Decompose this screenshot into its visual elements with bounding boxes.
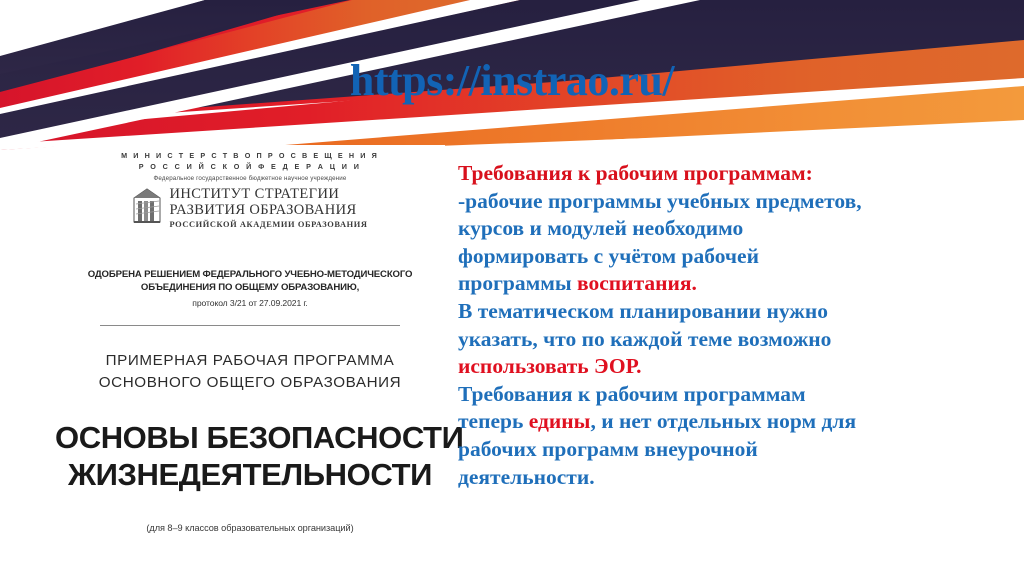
program-title-line-1: ПРИМЕРНАЯ РАБОЧАЯ ПРОГРАММА bbox=[55, 350, 445, 372]
institute-name-line-2: РАЗВИТИЯ ОБРАЗОВАНИЯ bbox=[169, 203, 367, 219]
approval-block: ОДОБРЕНА РЕШЕНИЕМ ФЕДЕРАЛЬНОГО УЧЕБНО-МЕ… bbox=[55, 269, 445, 308]
body-line-6: указать, что по каждой теме возможно bbox=[458, 326, 998, 354]
protocol-line: протокол 3/21 от 27.09.2021 г. bbox=[67, 298, 433, 308]
body-line-9-emphasis: едины bbox=[529, 409, 591, 433]
body-line-1: -рабочие программы учебных предметов, bbox=[458, 188, 998, 216]
document-cover-image: М И Н И С Т Е Р С Т В О П Р О С В Е Щ Е … bbox=[55, 145, 445, 545]
body-line-4-prefix: программы bbox=[458, 271, 577, 295]
institute-name-line-1: ИНСТИТУТ СТРАТЕГИИ bbox=[169, 187, 367, 203]
target-grades-line: (для 8–9 классов образовательных организ… bbox=[55, 523, 445, 533]
body-line-7: использовать ЭОР. bbox=[458, 353, 998, 381]
program-title-block: ПРИМЕРНАЯ РАБОЧАЯ ПРОГРАММА ОСНОВНОГО ОБ… bbox=[55, 350, 445, 394]
program-title-line-2: ОСНОВНОГО ОБЩЕГО ОБРАЗОВАНИЯ bbox=[55, 372, 445, 394]
body-line-3: формировать с учётом рабочей bbox=[458, 243, 998, 271]
federal-institution-line: Федеральное государственное бюджетное на… bbox=[154, 175, 347, 182]
body-line-11: деятельности. bbox=[458, 464, 998, 492]
body-line-8: Требования к рабочим программам bbox=[458, 381, 998, 409]
body-line-2: курсов и модулей необходимо bbox=[458, 215, 998, 243]
body-line-10: рабочих программ внеурочной bbox=[458, 436, 998, 464]
approval-line-1: ОДОБРЕНА РЕШЕНИЕМ ФЕДЕРАЛЬНОГО УЧЕБНО-МЕ… bbox=[67, 269, 433, 282]
ministry-line-2: Р О С С И Й С К О Й Ф Е Д Е Р А Ц И И bbox=[139, 162, 362, 171]
institute-building-icon bbox=[132, 188, 162, 229]
institute-logo-text: ИНСТИТУТ СТРАТЕГИИ РАЗВИТИЯ ОБРАЗОВАНИЯ … bbox=[169, 187, 367, 229]
subject-title-line-1: ОСНОВЫ БЕЗОПАСНОСТИ bbox=[55, 420, 445, 457]
body-line-9-suffix: , и нет отдельных норм для bbox=[590, 409, 856, 433]
subject-title-line-2: ЖИЗНЕДЕЯТЕЛЬНОСТИ bbox=[55, 457, 445, 494]
institute-name-line-3: РОССИЙСКОЙ АКАДЕМИИ ОБРАЗОВАНИЯ bbox=[169, 220, 367, 229]
document-masthead: М И Н И С Т Е Р С Т В О П Р О С В Е Щ Е … bbox=[55, 145, 445, 229]
banner-white-sliver-lower bbox=[392, 120, 1024, 150]
slide-title: https://instrao.ru/ bbox=[0, 58, 1024, 104]
subject-title-block: ОСНОВЫ БЕЗОПАСНОСТИ ЖИЗНЕДЕЯТЕЛЬНОСТИ bbox=[55, 420, 445, 493]
body-line-9-prefix: теперь bbox=[458, 409, 529, 433]
body-line-4-emphasis: воспитания. bbox=[577, 271, 697, 295]
body-heading: Требования к рабочим программам: bbox=[458, 160, 998, 188]
body-text-block: Требования к рабочим программам: -рабочи… bbox=[458, 160, 998, 491]
body-line-4: программы воспитания. bbox=[458, 270, 998, 298]
body-line-5: В тематическом планировании нужно bbox=[458, 298, 998, 326]
approval-line-2: ОБЪЕДИНЕНИЯ ПО ОБЩЕМУ ОБРАЗОВАНИЮ, bbox=[67, 282, 433, 295]
ministry-line-1: М И Н И С Т Е Р С Т В О П Р О С В Е Щ Е … bbox=[121, 151, 379, 160]
body-line-9: теперь едины, и нет отдельных норм для bbox=[458, 408, 998, 436]
cover-divider-rule bbox=[100, 325, 400, 326]
institute-logo: ИНСТИТУТ СТРАТЕГИИ РАЗВИТИЯ ОБРАЗОВАНИЯ … bbox=[132, 187, 367, 229]
